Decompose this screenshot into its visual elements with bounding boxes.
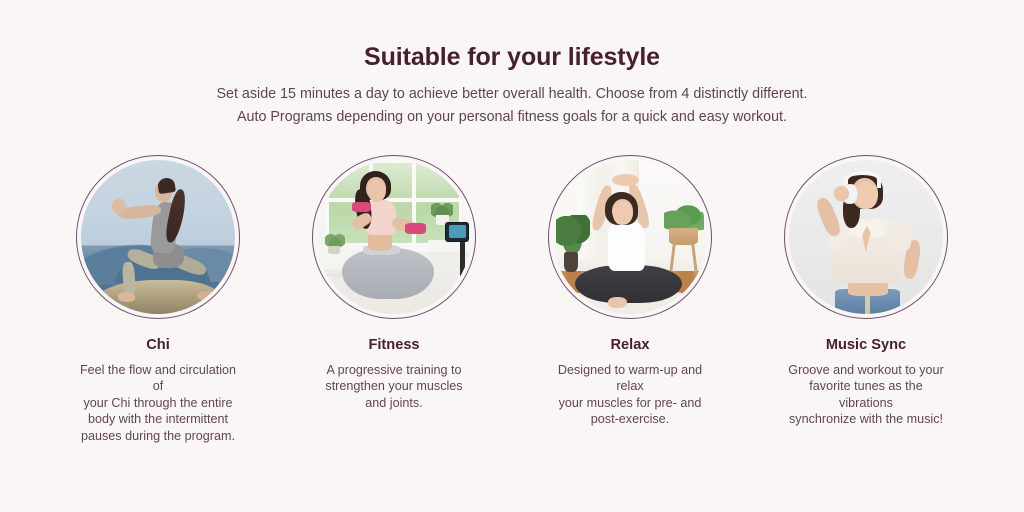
program-card-chi[interactable]: Chi Feel the flow and circulation of you… — [75, 155, 241, 444]
figure-foot — [118, 292, 135, 301]
card-title-music-sync: Music Sync — [826, 337, 906, 355]
desc-line: favorite tunes as the vibrations — [783, 378, 949, 411]
lifestyle-section: Suitable for your lifestyle Set aside 15… — [0, 0, 1024, 512]
desc-line: your muscles for pre- and — [547, 395, 713, 412]
phone-screen — [449, 225, 466, 239]
program-card-music-sync[interactable]: Music Sync Groove and workout to your fa… — [783, 155, 949, 428]
desc-line: strengthen your muscles — [325, 378, 462, 395]
plant-icon — [556, 215, 590, 255]
figure-face — [368, 180, 386, 202]
program-photo-ring-music-sync[interactable] — [784, 155, 948, 319]
card-title-relax: Relax — [611, 337, 650, 355]
headphones-photo-icon — [789, 160, 943, 314]
smartphone-icon — [445, 222, 470, 242]
dumbbell-workout-photo-icon — [317, 160, 471, 314]
vase-shape — [564, 252, 578, 272]
dumbbell-icon — [352, 202, 370, 213]
program-card-fitness[interactable]: Fitness A progressive training to streng… — [311, 155, 477, 411]
program-card-list: Chi Feel the flow and circulation of you… — [0, 155, 1024, 444]
card-description-fitness: A progressive training to strengthen you… — [325, 362, 462, 412]
desc-line: and joints. — [325, 395, 462, 412]
card-description-chi: Feel the flow and circulation of your Ch… — [75, 362, 241, 445]
desc-line: body with the intermittent — [75, 411, 241, 428]
plant-pot — [328, 246, 340, 254]
figure-hair — [157, 177, 176, 195]
stretching-photo-icon — [553, 160, 707, 314]
desc-line: Feel the flow and circulation of — [75, 362, 241, 395]
figure-face — [613, 202, 633, 225]
plant-stand-leg — [691, 243, 698, 274]
card-title-chi: Chi — [146, 337, 170, 355]
desc-line: Designed to warm-up and relax — [547, 362, 713, 395]
figure-tank-top — [608, 222, 645, 271]
desc-line: your Chi through the entire — [75, 395, 241, 412]
section-subtitle: Set aside 15 minutes a day to achieve be… — [0, 83, 1024, 129]
card-title-fitness: Fitness — [368, 337, 419, 355]
figure-arm — [814, 196, 843, 239]
subtitle-line-2: Auto Programs depending on your personal… — [0, 106, 1024, 129]
program-photo-ring-fitness[interactable] — [312, 155, 476, 319]
card-description-music-sync: Groove and workout to your favorite tune… — [783, 362, 949, 428]
figure-sleeve — [888, 222, 911, 251]
program-card-relax[interactable]: Relax Designed to warm-up and relax your… — [547, 155, 713, 428]
plant-stand-leg — [669, 243, 676, 274]
desc-line: Groove and workout to your — [783, 362, 949, 379]
page-title: Suitable for your lifestyle — [0, 44, 1024, 72]
desc-line: post-exercise. — [547, 411, 713, 428]
program-photo-ring-chi[interactable] — [76, 155, 240, 319]
dumbbell-icon — [405, 223, 427, 234]
tripod-icon — [460, 240, 465, 299]
figure-legs — [342, 248, 434, 299]
taichi-photo-icon — [81, 160, 235, 314]
program-photo-ring-relax[interactable] — [548, 155, 712, 319]
card-description-relax: Designed to warm-up and relax your muscl… — [547, 362, 713, 428]
subtitle-line-1: Set aside 15 minutes a day to achieve be… — [0, 83, 1024, 106]
section-header: Suitable for your lifestyle Set aside 15… — [0, 0, 1024, 129]
figure-foot — [608, 297, 626, 308]
desc-line: A progressive training to — [325, 362, 462, 379]
desc-line: pauses during the program. — [75, 428, 241, 445]
desc-line: synchronize with the music! — [783, 411, 949, 428]
